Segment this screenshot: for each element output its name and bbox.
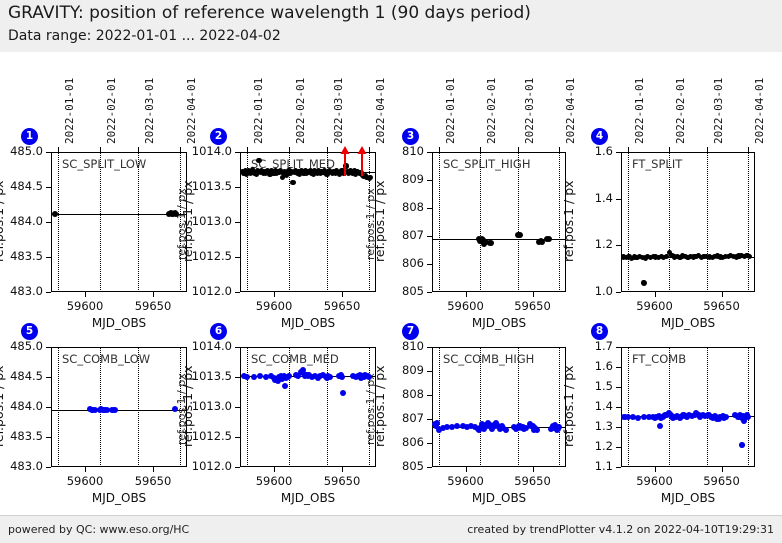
ytick-mark [427,443,432,444]
plot-panel-3 [432,152,566,292]
xtick-label: 59600 [55,474,115,488]
ytick-mark [46,257,51,258]
ytick-mark [427,419,432,420]
ytick-mark [427,236,432,237]
ytick-mark [46,292,51,293]
gridline-month-1 [628,347,629,467]
date-tick-mark [369,147,370,152]
xtick-label: 59650 [503,474,563,488]
panel-badge-1: 1 [21,128,38,145]
gridline-month-2 [669,152,670,292]
gridline-month-3 [138,152,139,292]
panel-title-7: SC_COMB_HIGH [443,352,534,366]
panel-title-5: SC_COMB_LOW [62,352,150,366]
data-point [503,427,509,433]
data-point [290,180,295,185]
ytick-mark [616,387,621,388]
panel-badge-4: 4 [591,128,608,145]
yaxis-title-6: ref.pos.1 / px [180,365,195,447]
date-tick-mark [518,147,519,152]
ytick-mark [616,427,621,428]
date-tick-label: 2022-03-01 [332,78,345,144]
ytick-mark [616,152,621,153]
ytick-mark [616,199,621,200]
xtick-label: 59600 [436,299,496,313]
date-tick-mark [707,147,708,152]
date-tick-label: 2022-03-01 [712,78,725,144]
plot-canvas: 1SC_SPLIT_LOW483.0483.5484.0484.5485.059… [0,52,782,515]
ytick-label: 483.5 [0,429,43,443]
ytick-mark [46,152,51,153]
date-tick-mark [247,147,248,152]
panel-badge-5: 5 [21,323,38,340]
ytick-label: 484.5 [0,179,43,193]
ytick-mark [46,407,51,408]
xtick-label: 59650 [123,474,183,488]
data-point [52,211,58,217]
ytick-label: 1.7 [565,339,613,353]
ytick-label: 1012.0 [184,284,232,298]
gridline-month-4 [748,347,749,467]
ytick-label: 805 [376,284,424,298]
ytick-label: 484.5 [0,369,43,383]
xaxis-title-3: MJD_OBS [449,316,549,330]
xtick-label: 59600 [55,299,115,313]
date-tick-label: 2022-01-01 [63,78,76,144]
ytick-mark [235,257,240,258]
date-tick-mark [289,147,290,152]
gridline-month-3 [707,152,708,292]
gridline-month-2 [480,152,481,292]
page-title: GRAVITY: position of reference wavelengt… [8,3,531,23]
data-point [339,374,345,380]
yaxis-title-2: ref.pos.1 / px [180,180,195,262]
xtick-label: 59600 [625,474,685,488]
gridline-month-3 [518,152,519,292]
panel-badge-3: 3 [402,128,419,145]
xaxis-title-7: MJD_OBS [449,491,549,505]
ytick-mark [616,367,621,368]
date-tick-label: 2022-02-01 [105,78,118,144]
ytick-mark [46,222,51,223]
ytick-mark [235,377,240,378]
ytick-mark [235,187,240,188]
xaxis-title-1: MJD_OBS [69,316,169,330]
panel-badge-8: 8 [591,323,608,340]
ytick-label: 1014.0 [184,144,232,158]
yaxis-title-1: ref.pos.1 / px [0,180,6,262]
ytick-mark [46,187,51,188]
data-point [256,158,261,163]
date-tick-label: 2022-04-01 [185,78,198,144]
data-point [173,211,179,217]
ytick-mark [427,180,432,181]
panel-title-6: SC_COMB_MED [251,352,339,366]
ytick-mark [427,264,432,265]
date-tick-mark [559,147,560,152]
xtick-label: 59650 [312,299,372,313]
data-point [434,420,440,426]
panel-title-4: FT_SPLIT [632,157,682,171]
ytick-mark [235,152,240,153]
plot-panel-4 [621,152,755,292]
date-tick-label: 2022-01-01 [444,78,457,144]
xtick-mark [655,467,656,472]
date-tick-mark [138,147,139,152]
ytick-mark [427,371,432,372]
ytick-mark [235,467,240,468]
ytick-label: 1.6 [565,144,613,158]
ytick-label: 485.0 [0,144,43,158]
xtick-label: 59600 [244,474,304,488]
xtick-label: 59600 [436,474,496,488]
date-tick-mark [100,147,101,152]
gridline-month-3 [327,347,328,467]
panel-badge-2: 2 [210,128,227,145]
ytick-label: 1014.0 [184,339,232,353]
ytick-mark [46,437,51,438]
ytick-mark [235,347,240,348]
yaxis-title-7: ref.pos.1 / px [372,365,387,447]
xtick-mark [85,292,86,297]
xtick-mark [153,467,154,472]
ytick-mark [427,347,432,348]
xtick-label: 59650 [123,299,183,313]
panel-title-8: FT_COMB [632,352,686,366]
ytick-mark [46,347,51,348]
ytick-label: 483.0 [0,459,43,473]
yaxis-title-5: ref.pos.1 / px [0,365,6,447]
ytick-mark [616,347,621,348]
xtick-mark [466,292,467,297]
xaxis-title-8: MJD_OBS [638,491,738,505]
xtick-mark [722,467,723,472]
footer-powered-by: powered by QC: www.eso.org/HC [8,523,189,536]
xtick-mark [342,292,343,297]
ytick-mark [46,377,51,378]
date-tick-mark [439,147,440,152]
ytick-label: 1012.0 [184,459,232,473]
ytick-mark [616,447,621,448]
gridline-month-3 [707,347,708,467]
panel-badge-7: 7 [402,323,419,340]
xaxis-title-6: MJD_OBS [258,491,358,505]
panel-badge-6: 6 [210,323,227,340]
date-tick-label: 2022-03-01 [523,78,536,144]
date-tick-label: 2022-02-01 [674,78,687,144]
plot-panel-1 [51,152,187,292]
xtick-mark [153,292,154,297]
red-up-arrow [357,146,367,176]
date-tick-label: 2022-03-01 [143,78,156,144]
gridline-month-3 [138,347,139,467]
ytick-mark [616,407,621,408]
ytick-label: 484.0 [0,214,43,228]
header-bar: GRAVITY: position of reference wavelengt… [0,0,782,52]
xtick-label: 59650 [312,474,372,488]
xtick-mark [655,292,656,297]
xaxis-title-4: MJD_OBS [638,316,738,330]
gridline-month-2 [289,347,290,467]
xtick-label: 59600 [625,299,685,313]
yaxis-title-4: ref.pos.1 / px [561,180,576,262]
yaxis-title-8: ref.pos.1 / px [561,365,576,447]
gridline-month-2 [100,152,101,292]
data-point [546,236,552,242]
data-point-outlier [641,280,647,286]
gridline-month-1 [58,347,59,467]
gridline-month-2 [669,347,670,467]
ytick-label: 483.5 [0,249,43,263]
ytick-label: 1.1 [565,459,613,473]
gridline-month-1 [439,152,440,292]
xaxis-title-2: MJD_OBS [258,316,358,330]
xtick-label: 59650 [503,299,563,313]
data-point [534,427,540,433]
ytick-label: 805 [376,459,424,473]
ytick-mark [235,407,240,408]
xtick-mark [274,467,275,472]
ytick-label: 810 [376,339,424,353]
ytick-mark [427,152,432,153]
date-tick-mark [748,147,749,152]
ytick-mark [427,208,432,209]
ytick-mark [427,467,432,468]
xtick-label: 59600 [244,299,304,313]
red-up-arrow [340,146,350,176]
ytick-mark [235,437,240,438]
date-tick-mark [180,147,181,152]
date-tick-mark [327,147,328,152]
gridline-month-3 [518,347,519,467]
date-tick-mark [669,147,670,152]
date-tick-label: 2022-04-01 [374,78,387,144]
xtick-label: 59650 [692,474,752,488]
ytick-mark [427,292,432,293]
xtick-mark [722,292,723,297]
gridline-month-2 [480,347,481,467]
gridline-month-1 [628,152,629,292]
gridline-month-1 [58,152,59,292]
yaxis-title-3: ref.pos.1 / px [372,180,387,262]
data-point [282,383,288,389]
ytick-mark [616,467,621,468]
gridline-month-4 [748,152,749,292]
xaxis-title-5: MJD_OBS [69,491,169,505]
ytick-mark [616,292,621,293]
ytick-mark [235,222,240,223]
xtick-mark [85,467,86,472]
data-point-outlier [739,442,745,448]
ytick-label: 484.0 [0,399,43,413]
data-point [251,374,257,380]
date-tick-label: 2022-01-01 [252,78,265,144]
ytick-mark [235,292,240,293]
xtick-label: 59650 [692,299,752,313]
date-tick-label: 2022-04-01 [564,78,577,144]
data-point [327,374,333,380]
ytick-mark [616,245,621,246]
xtick-mark [274,292,275,297]
ytick-label: 1.0 [565,284,613,298]
date-tick-label: 2022-02-01 [485,78,498,144]
mean-line-5 [51,410,187,411]
xtick-mark [533,292,534,297]
date-tick-mark [58,147,59,152]
date-tick-mark [628,147,629,152]
footer-created-by: created by trendPlotter v4.1.2 on 2022-0… [467,523,774,536]
ytick-mark [427,395,432,396]
data-point [368,175,373,180]
ytick-label: 483.0 [0,284,43,298]
date-tick-label: 2022-04-01 [753,78,766,144]
xtick-mark [466,467,467,472]
data-range-subtitle: Data range: 2022-01-01 ... 2022-04-02 [8,28,281,44]
xtick-mark [342,467,343,472]
ytick-label: 810 [376,144,424,158]
panel-title-1: SC_SPLIT_LOW [62,157,146,171]
data-point [286,373,292,379]
data-point [723,414,729,420]
gridline-month-1 [247,347,248,467]
data-point [244,374,250,380]
ytick-label: 485.0 [0,339,43,353]
gridline-month-1 [439,347,440,467]
data-point [488,240,494,246]
xtick-mark [533,467,534,472]
date-tick-mark [480,147,481,152]
date-tick-label: 2022-02-01 [294,78,307,144]
date-tick-label: 2022-01-01 [633,78,646,144]
ytick-mark [46,467,51,468]
footer-bar: powered by QC: www.eso.org/HC created by… [0,515,782,543]
